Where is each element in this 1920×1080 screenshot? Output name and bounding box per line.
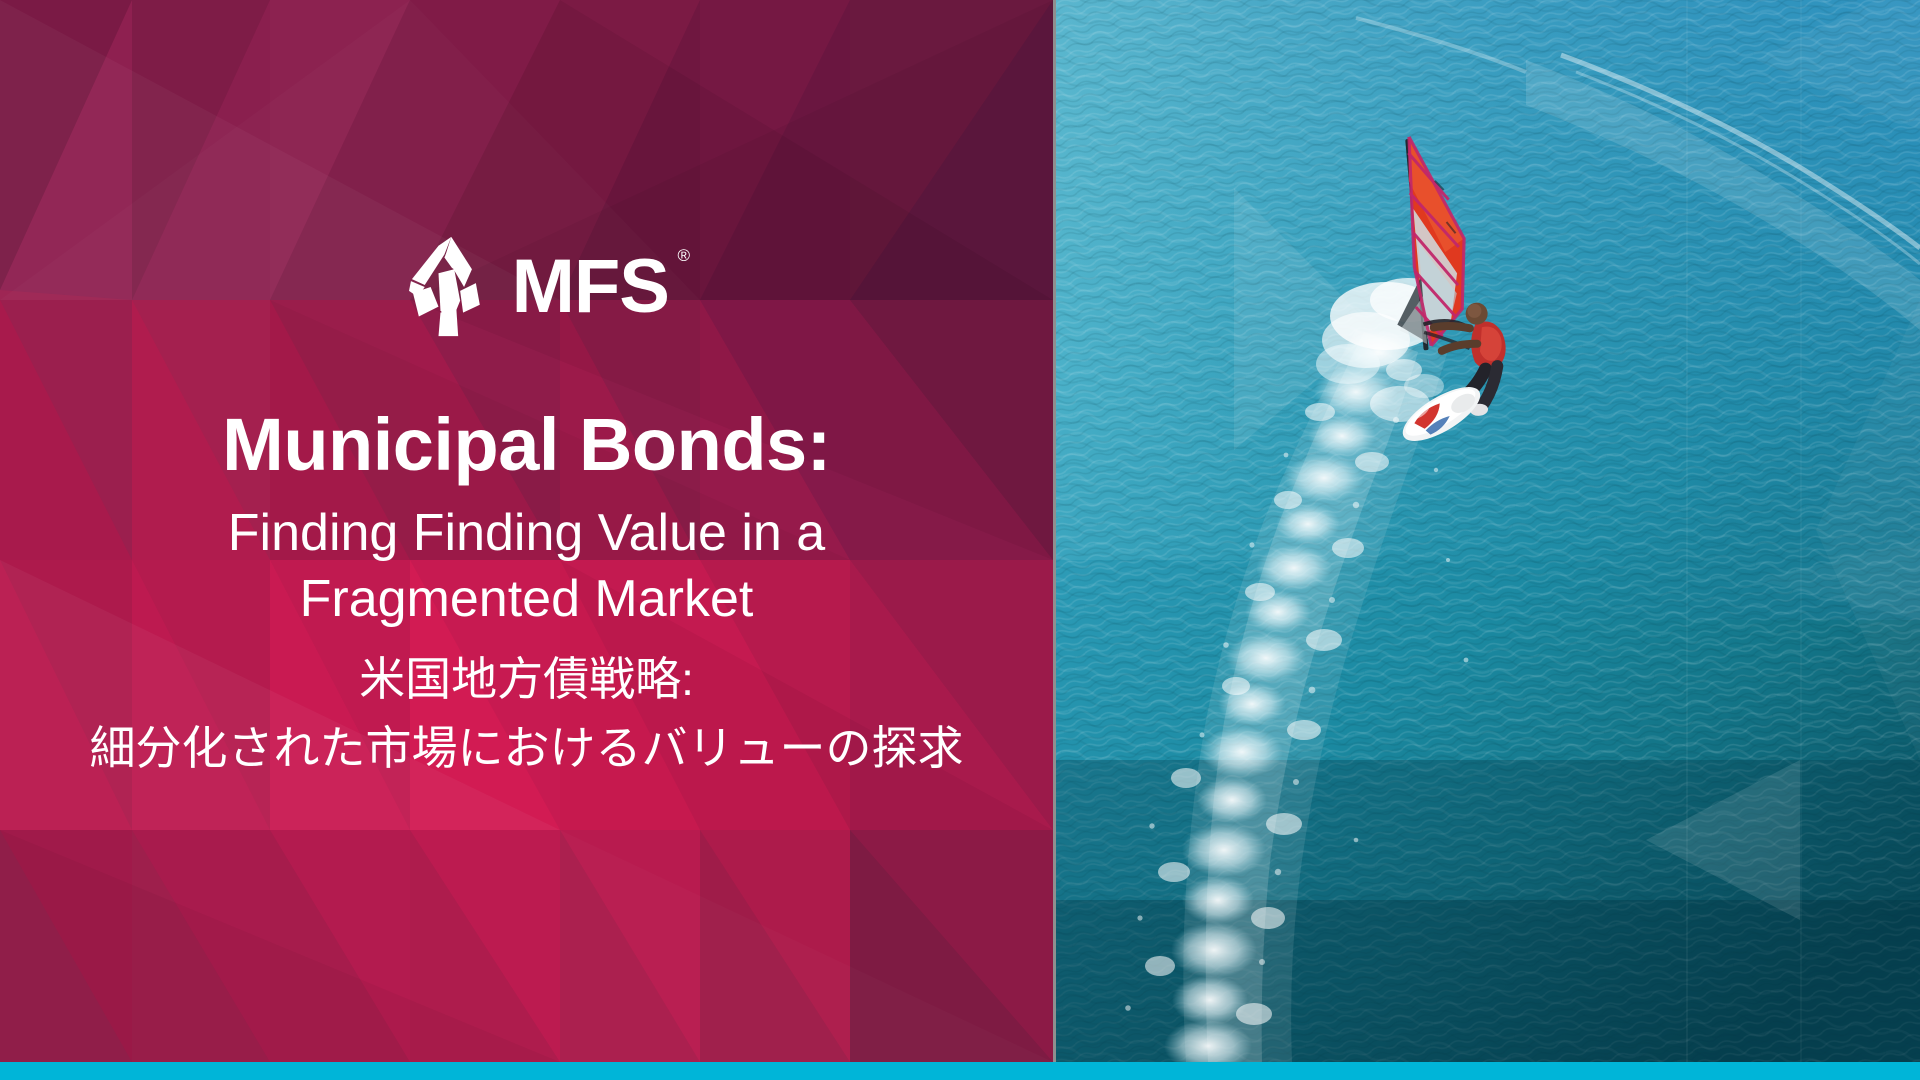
mfs-wordmark-text: MFS: [512, 244, 669, 329]
title-text-block: Municipal Bonds: Finding Finding Value i…: [0, 406, 1053, 781]
mfs-wordmark: MFS®: [512, 249, 669, 325]
title-slide: MFS® Municipal Bonds: Finding Finding Va…: [0, 0, 1920, 1080]
subtitle-en-line-2: Fragmented Market: [0, 566, 1053, 633]
subtitle-en-line-1: Finding Finding Value in a: [0, 500, 1053, 567]
windsurfer-photo: [1056, 0, 1920, 1062]
subtitle-jp-line-1: 米国地方債戦略:: [0, 647, 1053, 712]
registered-trademark-icon: ®: [677, 247, 689, 264]
bottom-accent-bar: [0, 1062, 1920, 1080]
mfs-origami-mark-icon: [409, 235, 494, 339]
page-title: Municipal Bonds:: [0, 406, 1053, 484]
mfs-logo: MFS®: [409, 232, 669, 342]
hero-photo-panel: [1053, 0, 1920, 1062]
subtitle-jp-line-2: 細分化された市場におけるバリューの探求: [0, 716, 1053, 781]
